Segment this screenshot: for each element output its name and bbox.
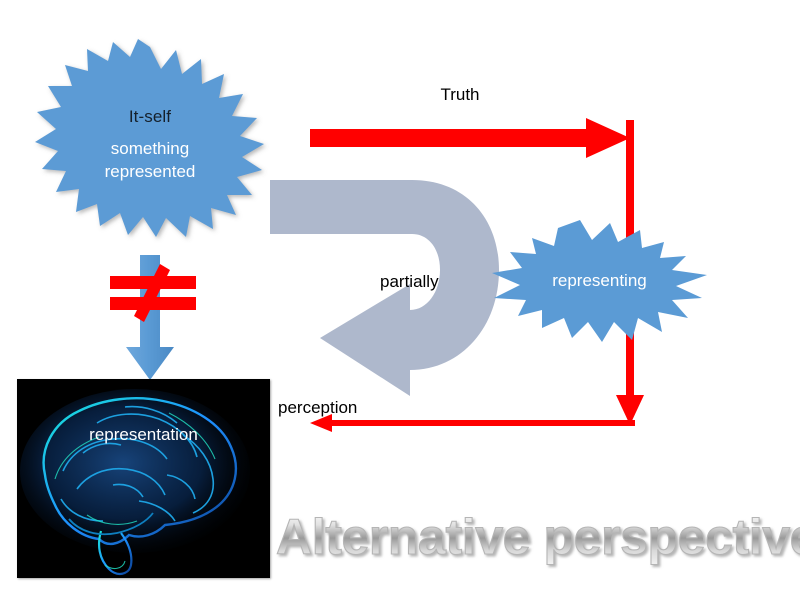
not-equal-symbol (108, 262, 198, 324)
connector-truth-arrow[interactable] (310, 118, 630, 158)
title-text: Alternative perspective (276, 509, 800, 565)
page-title: Alternative perspective (276, 506, 796, 570)
horizontal-line (328, 420, 635, 426)
node-itself-starburst[interactable]: It-self something represented (30, 45, 270, 245)
slide-canvas: It-self something represented Truth perc… (0, 0, 800, 600)
explosion-shape (492, 220, 707, 342)
node-representation-image[interactable]: representation (17, 379, 270, 578)
node-representing-starburst[interactable]: representing (492, 218, 707, 343)
connector-partially-label: partially (380, 272, 439, 292)
left-arrowhead-icon (310, 414, 332, 432)
slash-stroke (134, 264, 170, 322)
starburst-shape (35, 39, 264, 237)
connector-perception-arrow[interactable] (310, 412, 635, 434)
connector-truth-label: Truth (310, 85, 610, 105)
right-arrow-icon (310, 118, 630, 158)
